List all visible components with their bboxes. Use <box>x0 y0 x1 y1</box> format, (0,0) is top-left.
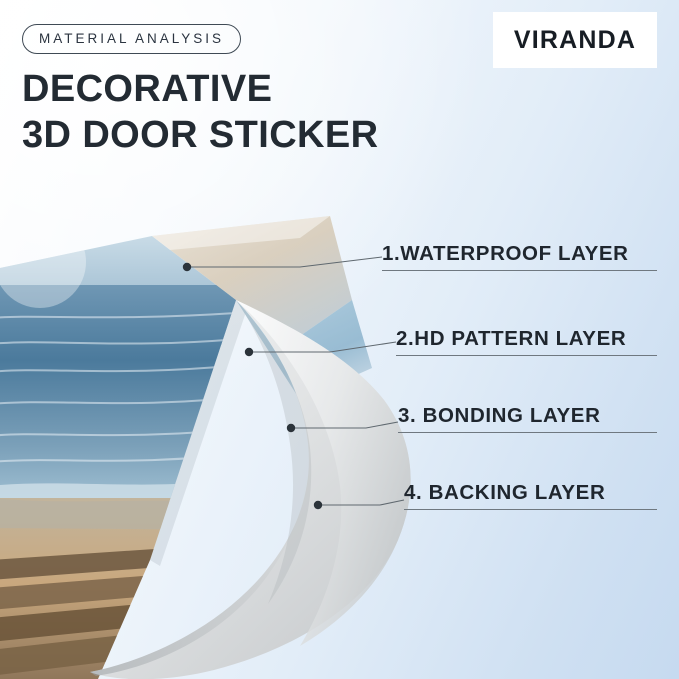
callout-label-3: 3. BONDING LAYER <box>398 404 601 427</box>
callout-backing-layer: 4. BACKING LAYER <box>404 481 657 510</box>
callout-underline-2 <box>396 355 657 356</box>
callout-waterproof-layer: 1.WATERPROOF LAYER <box>382 242 657 271</box>
callout-label-1: 1.WATERPROOF LAYER <box>382 242 629 265</box>
brand-name: VIRANDA <box>514 26 636 55</box>
callout-underline-1 <box>382 270 657 271</box>
callout-underline-4 <box>404 509 657 510</box>
callout-bonding-layer: 3. BONDING LAYER <box>398 404 657 433</box>
brand-logo-panel: VIRANDA <box>493 12 657 68</box>
material-analysis-badge: MATERIAL ANALYSIS <box>22 24 241 54</box>
page-title: DECORATIVE 3D DOOR STICKER <box>22 66 378 159</box>
poster-canvas: MATERIAL ANALYSIS DECORATIVE 3D DOOR STI… <box>0 0 679 679</box>
callout-underline-3 <box>398 432 657 433</box>
callout-label-4: 4. BACKING LAYER <box>404 481 605 504</box>
callout-hd-pattern-layer: 2.HD PATTERN LAYER <box>396 327 657 356</box>
callout-label-2: 2.HD PATTERN LAYER <box>396 327 626 350</box>
